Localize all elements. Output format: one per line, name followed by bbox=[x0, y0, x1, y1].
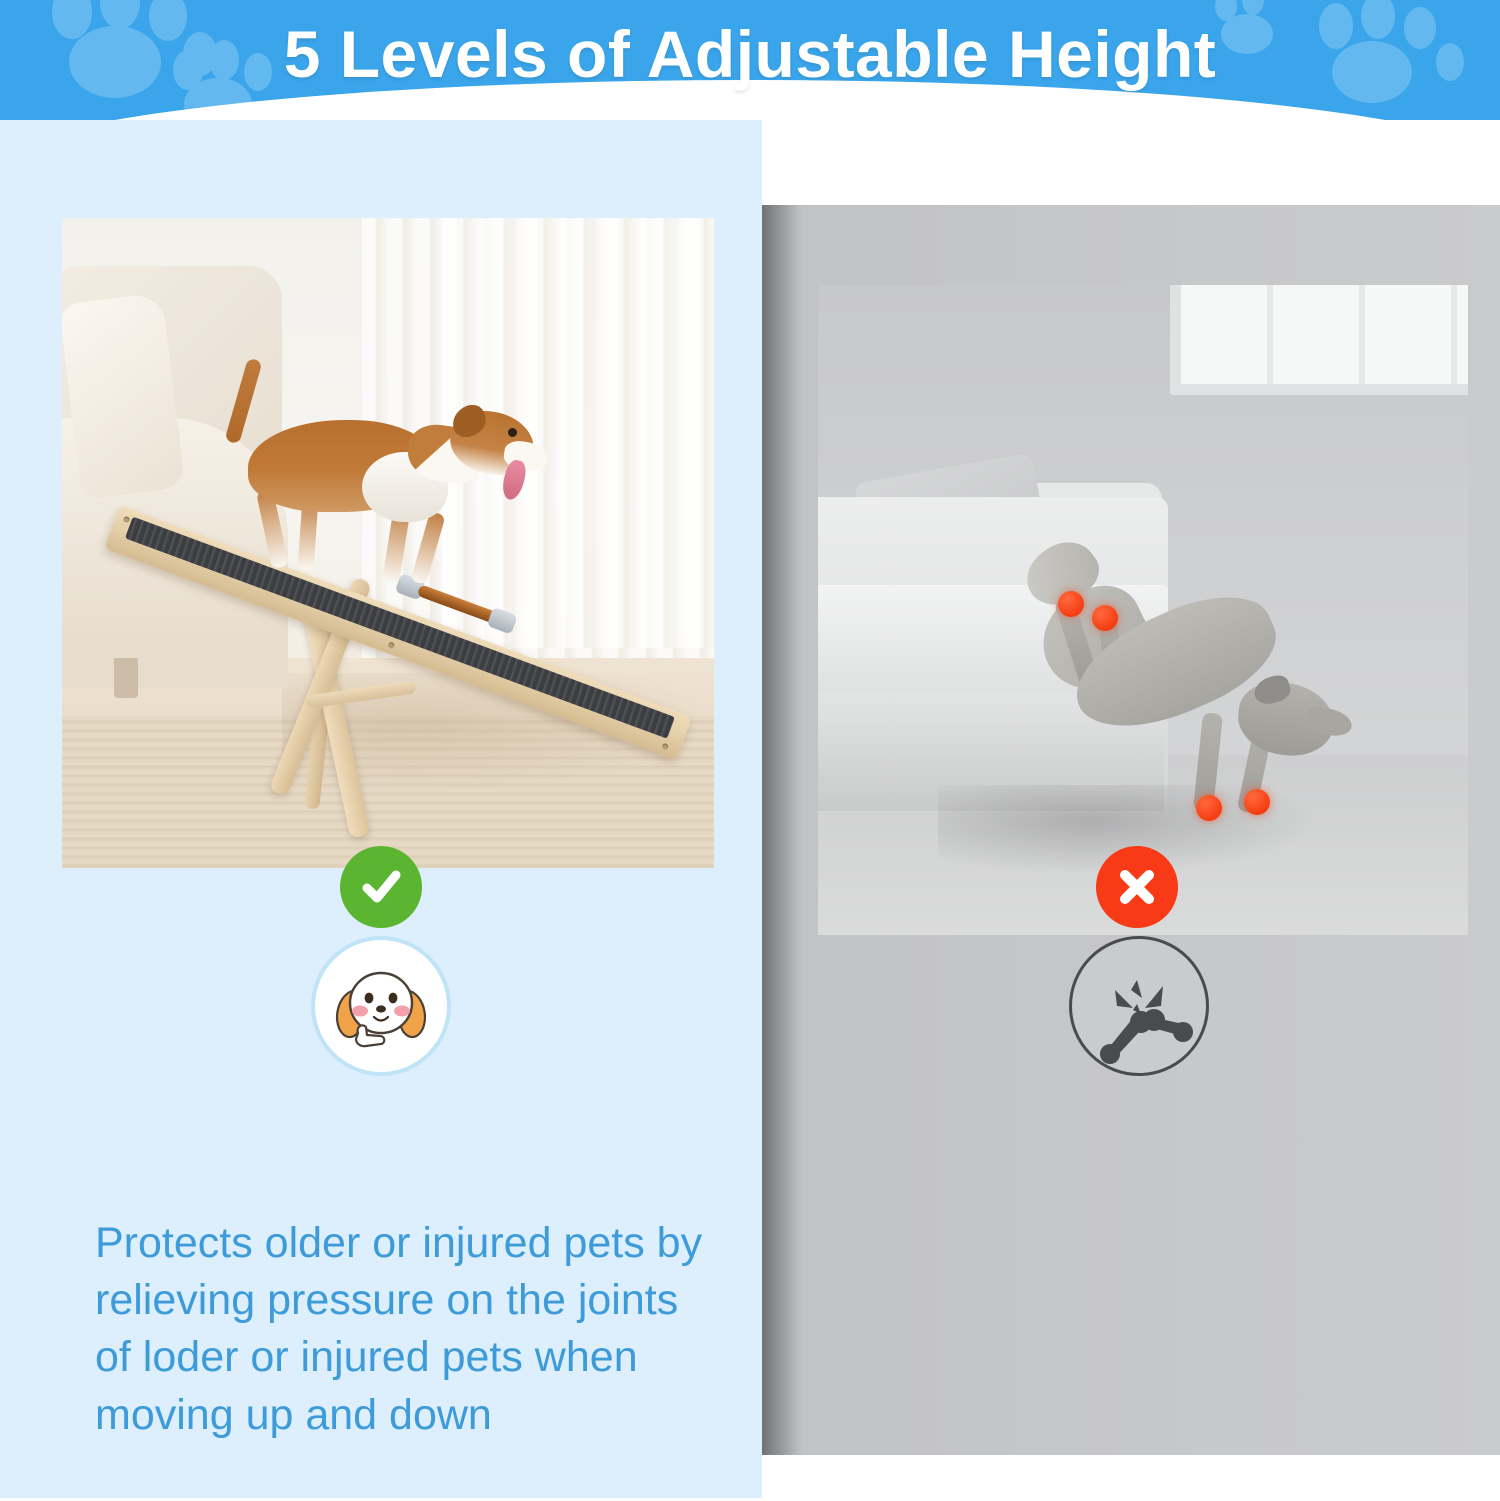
close-icon bbox=[1112, 862, 1162, 912]
joint-strain-marker bbox=[1196, 795, 1222, 821]
dog-on-wooden-ramp-photo bbox=[62, 218, 714, 868]
dog-jumping-onto-couch-photo bbox=[818, 285, 1468, 935]
gray-backdrop bbox=[762, 205, 1500, 1455]
joint-strain-marker bbox=[1058, 591, 1084, 617]
joint-strain-marker bbox=[1092, 605, 1118, 631]
dog-face-icon bbox=[322, 947, 440, 1065]
check-badge bbox=[340, 846, 422, 928]
broken-bone-joint-pain-icon bbox=[1069, 936, 1209, 1076]
not-recommended-panel: Prevents muscle and joint strains caused… bbox=[762, 120, 1500, 1498]
dog-leg bbox=[410, 511, 445, 585]
page-title: 5 Levels of Adjustable Height bbox=[0, 0, 1500, 108]
header-banner: 5 Levels of Adjustable Height bbox=[0, 0, 1500, 120]
bone-impact-icon bbox=[1079, 946, 1199, 1066]
brown-white-dog bbox=[212, 366, 542, 596]
window bbox=[1170, 285, 1468, 395]
joint-strain-marker bbox=[1244, 789, 1270, 815]
dog-tail bbox=[224, 358, 262, 445]
recommended-caption: Protects older or injured pets by reliev… bbox=[95, 1215, 715, 1444]
comparison-panels: Protects older or injured pets by reliev… bbox=[0, 120, 1500, 1498]
dog-eye bbox=[508, 428, 517, 437]
ramp-screw bbox=[661, 743, 669, 751]
ramp-screw bbox=[387, 641, 395, 649]
recommended-panel: Protects older or injured pets by reliev… bbox=[0, 120, 762, 1498]
slot-bracket bbox=[487, 607, 518, 635]
check-icon bbox=[355, 861, 407, 913]
cross-badge bbox=[1096, 846, 1178, 928]
ramp-screw bbox=[123, 516, 131, 524]
gray-jumping-dog bbox=[1030, 537, 1370, 897]
window-panes bbox=[1181, 285, 1468, 384]
happy-dog-thumbs-up-icon bbox=[311, 936, 451, 1076]
